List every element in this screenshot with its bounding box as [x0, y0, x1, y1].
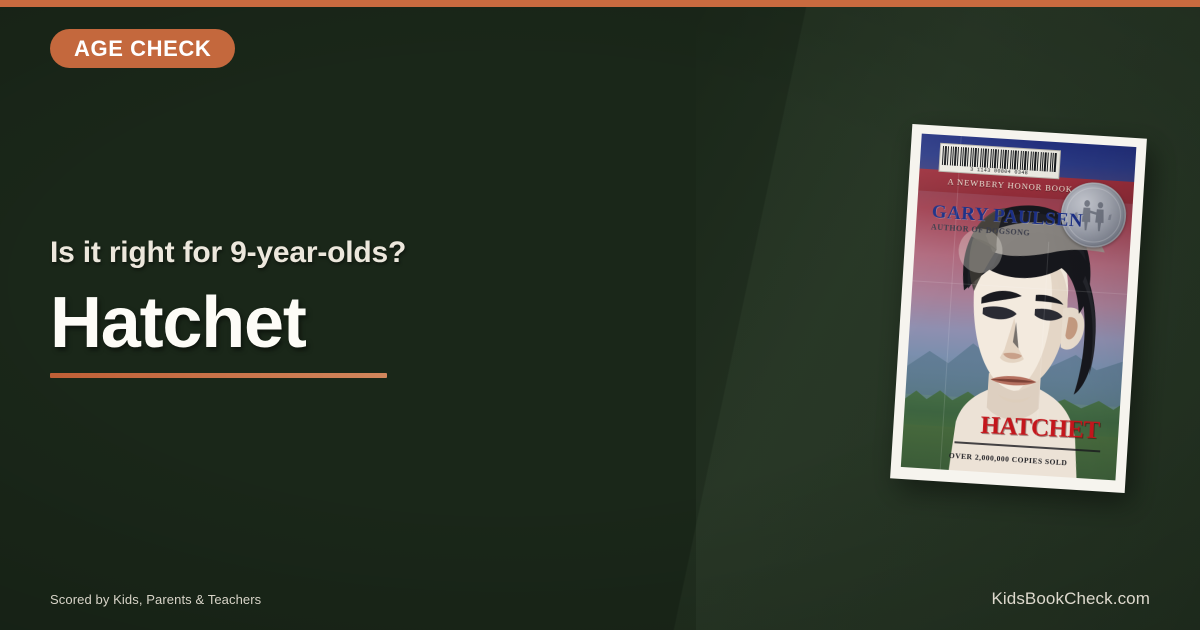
book-cover-artwork: A NEWBERY HONOR BOOK: [901, 134, 1137, 481]
footer-credit: Scored by Kids, Parents & Teachers: [50, 592, 261, 607]
top-accent-bar: [0, 0, 1200, 7]
eyebrow-question: Is it right for 9-year-olds?: [50, 236, 406, 269]
book-cover-frame: A NEWBERY HONOR BOOK: [890, 124, 1147, 493]
footer-site-name: KidsBookCheck.com: [991, 589, 1150, 609]
title-underline-rule: [50, 373, 387, 378]
headline-block: Is it right for 9-year-olds? Hatchet: [50, 236, 406, 378]
age-check-badge[interactable]: AGE CHECK: [50, 29, 235, 68]
book-cover-image[interactable]: A NEWBERY HONOR BOOK: [890, 124, 1147, 493]
social-card: AGE CHECK Is it right for 9-year-olds? H…: [0, 0, 1200, 630]
cover-book-title: HATCHET: [980, 413, 1100, 443]
age-check-badge-label: AGE CHECK: [74, 38, 211, 60]
page-title: Hatchet: [50, 287, 406, 359]
